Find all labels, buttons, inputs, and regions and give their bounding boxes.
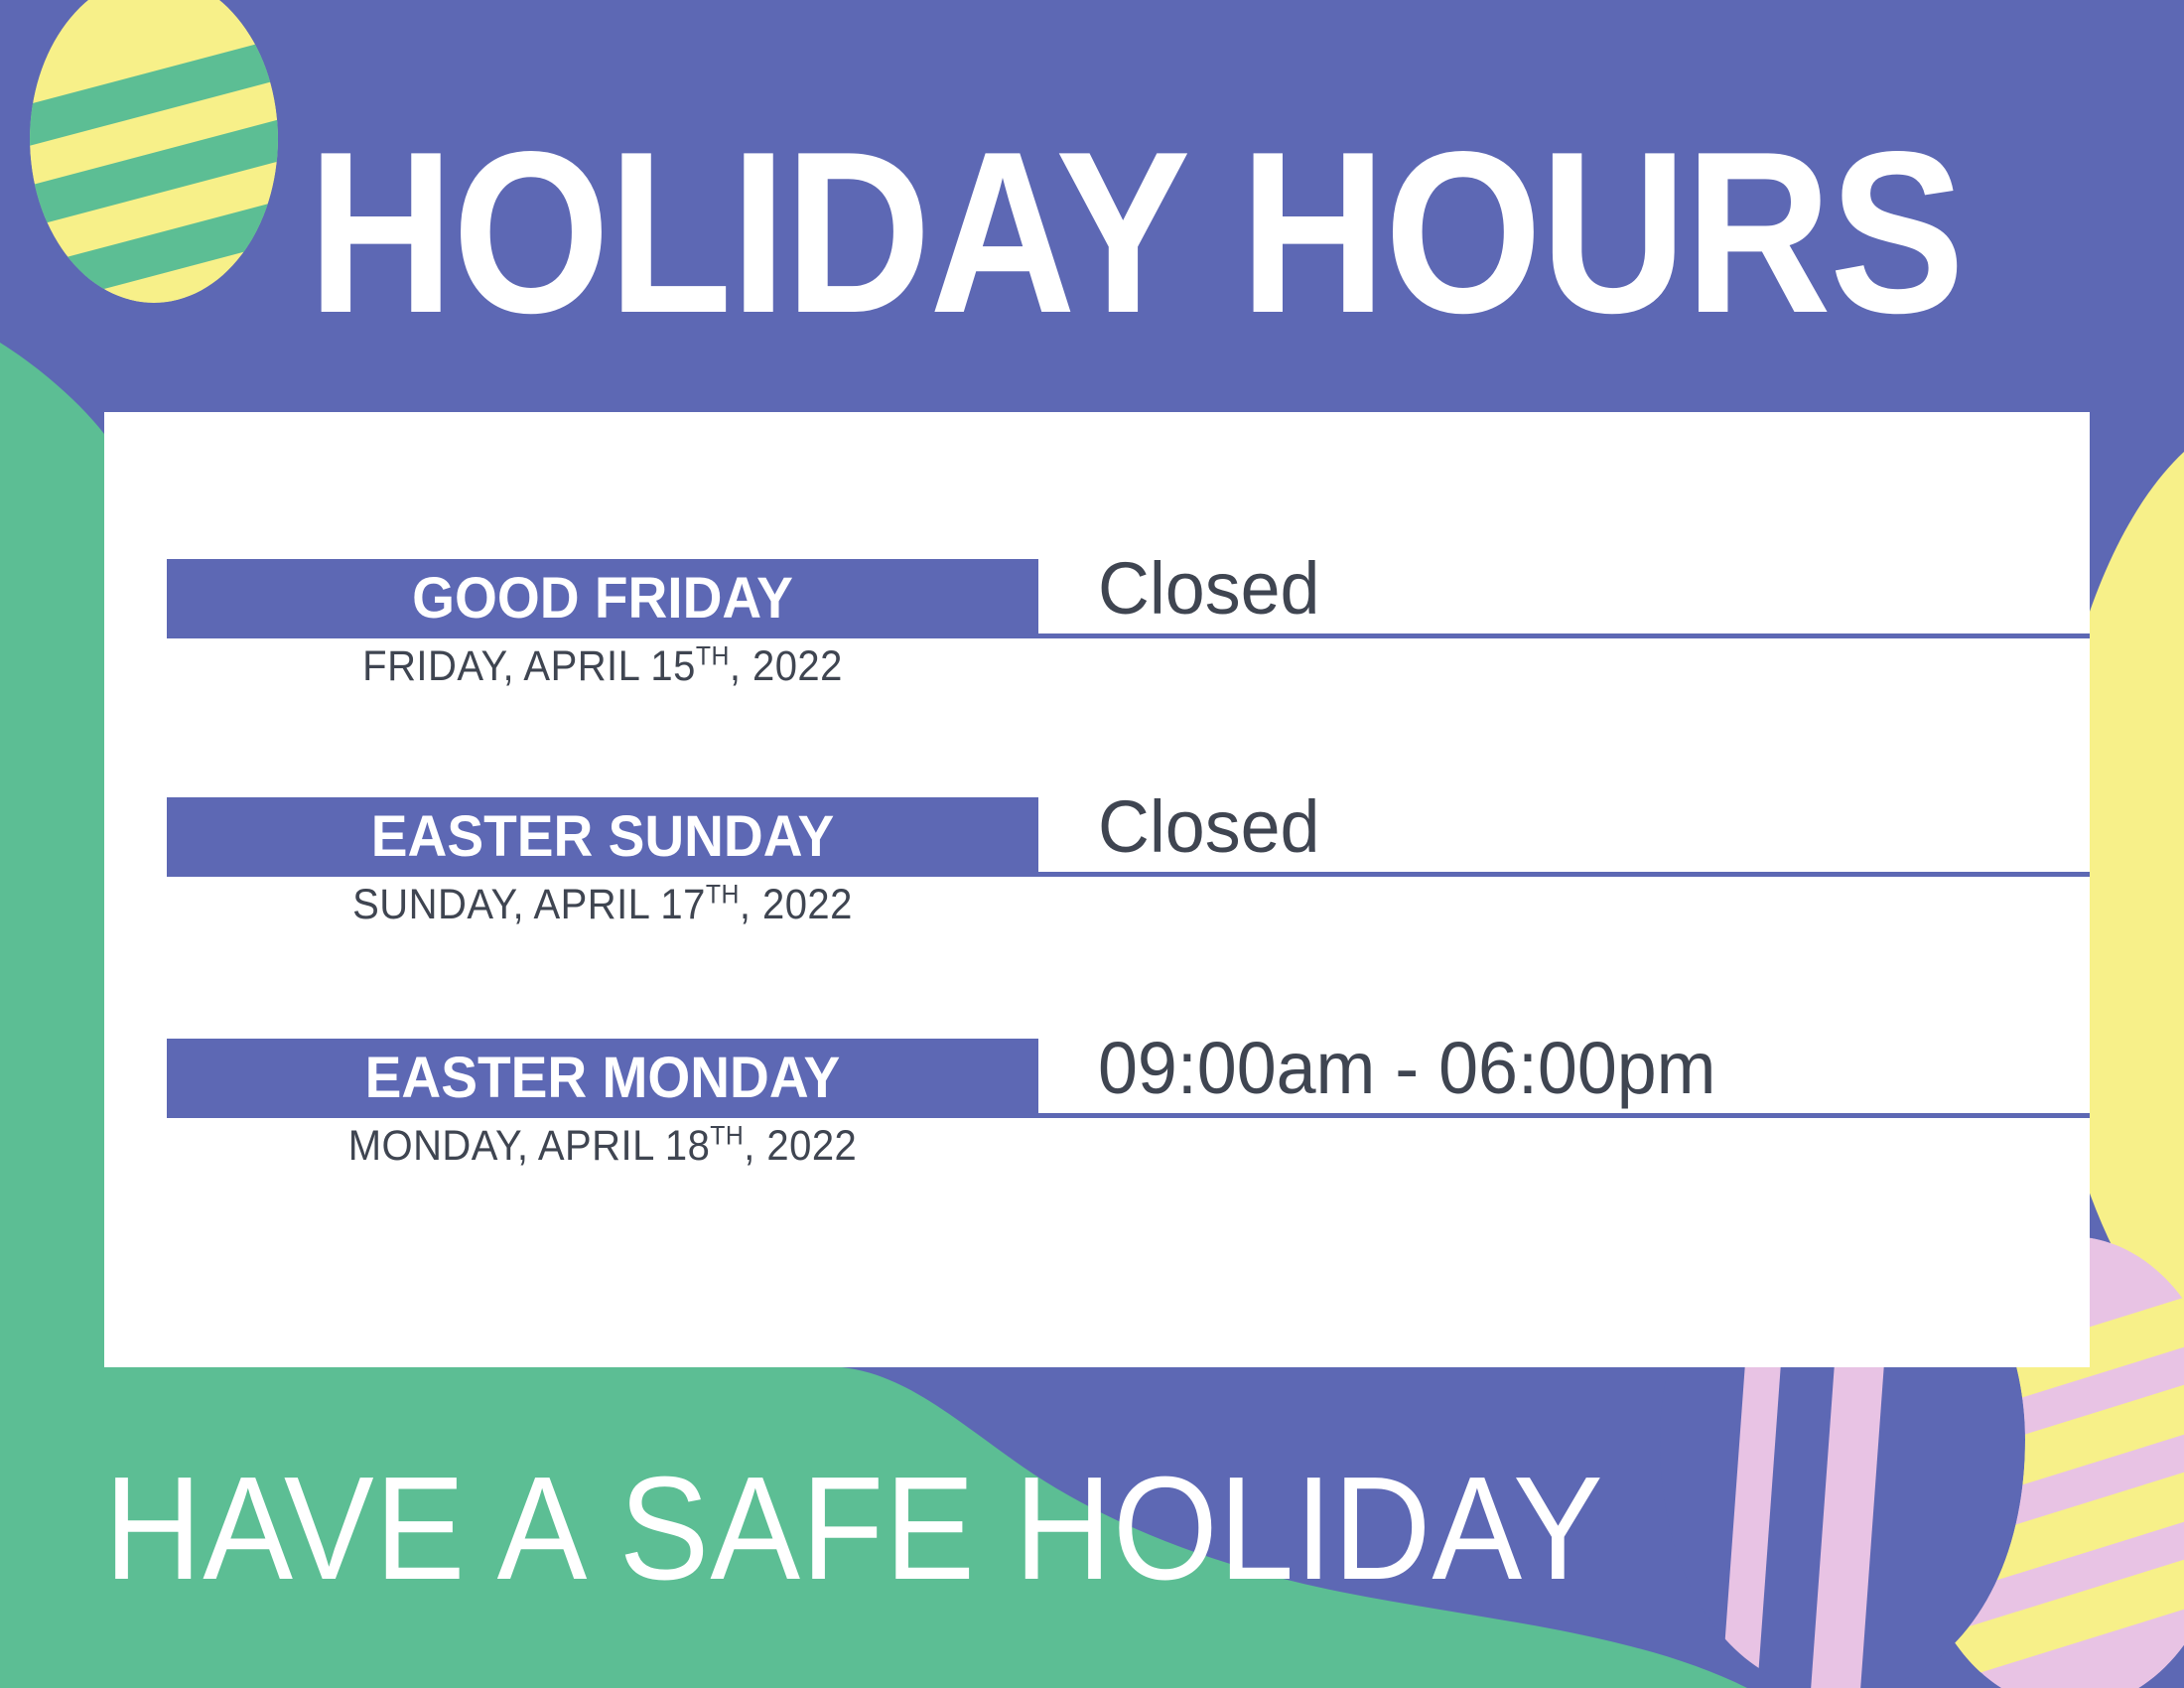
footer-message: HAVE A SAFE HOLIDAY bbox=[104, 1460, 1474, 1599]
holiday-date-ordinal: TH bbox=[706, 880, 740, 910]
holiday-date: SUNDAY, APRIL 17TH, 2022 bbox=[198, 881, 1009, 929]
holiday-name: EASTER SUNDAY bbox=[189, 797, 1017, 877]
holiday-hours-slot: Closed bbox=[1038, 549, 2090, 638]
holiday-date-prefix: FRIDAY, APRIL 15 bbox=[362, 642, 696, 690]
holiday-hours: 09:00am - 06:00pm bbox=[1098, 1030, 1715, 1107]
holiday-date: MONDAY, APRIL 18TH, 2022 bbox=[198, 1122, 1009, 1171]
page-title: HOLIDAY HOURS bbox=[308, 124, 1793, 343]
holiday-date-ordinal: TH bbox=[710, 1121, 744, 1151]
holiday-date-ordinal: TH bbox=[696, 641, 730, 671]
holiday-date-prefix: SUNDAY, APRIL 17 bbox=[352, 881, 706, 928]
holiday-hours-slot: Closed bbox=[1038, 787, 2090, 877]
holiday-date-suffix: , 2022 bbox=[744, 1122, 857, 1170]
holiday-date-suffix: , 2022 bbox=[740, 881, 853, 928]
holiday-hours: Closed bbox=[1098, 550, 1319, 628]
holiday-name: GOOD FRIDAY bbox=[189, 559, 1017, 638]
holiday-name: EASTER MONDAY bbox=[189, 1039, 1017, 1118]
holiday-hours-slot: 09:00am - 06:00pm bbox=[1038, 1029, 2090, 1118]
schedule-card: GOOD FRIDAY FRIDAY, APRIL 15TH, 2022 Clo… bbox=[104, 412, 2090, 1367]
holiday-date-suffix: , 2022 bbox=[730, 642, 843, 690]
holiday-date-prefix: MONDAY, APRIL 18 bbox=[348, 1122, 711, 1170]
holiday-hours: Closed bbox=[1098, 788, 1319, 866]
holiday-date: FRIDAY, APRIL 15TH, 2022 bbox=[198, 642, 1009, 691]
holiday-hours-poster: HOLIDAY HOURS GOOD FRIDAY FRIDAY, APRIL … bbox=[0, 0, 2184, 1688]
